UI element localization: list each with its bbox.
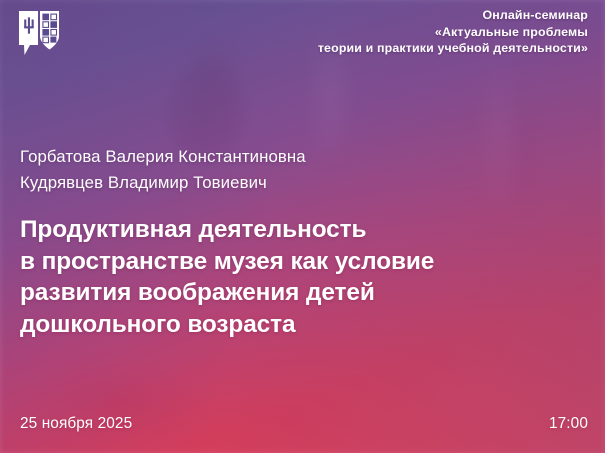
presentation-title: Продуктивная деятельность в пространстве…: [20, 214, 434, 340]
event-date: 25 ноября 2025: [20, 415, 132, 433]
webinar-announcement-poster: Онлайн-семинар «Актуальные проблемы теор…: [0, 0, 605, 453]
presentation-title-line-2: в пространстве музея как условие: [20, 246, 434, 278]
seminar-header-line-2: «Актуальные проблемы: [318, 24, 588, 41]
author-name-2: Кудрявцев Владимир Товиевич: [20, 170, 306, 196]
presentation-title-line-1: Продуктивная деятельность: [20, 214, 434, 246]
msupe-shield-logo-icon: [16, 9, 62, 58]
seminar-header-line-3: теории и практики учебной деятельности»: [318, 40, 588, 57]
author-name-1: Горбатова Валерия Константиновна: [20, 144, 306, 170]
seminar-header: Онлайн-семинар «Актуальные проблемы теор…: [318, 7, 588, 57]
seminar-header-line-1: Онлайн-семинар: [318, 7, 588, 24]
authors-list: Горбатова Валерия Константиновна Кудрявц…: [20, 144, 306, 195]
event-time: 17:00: [549, 415, 588, 433]
presentation-title-line-3: развития воображения детей: [20, 277, 434, 309]
presentation-title-line-4: дошкольного возраста: [20, 309, 434, 341]
poster-content: Онлайн-семинар «Актуальные проблемы теор…: [0, 0, 605, 453]
